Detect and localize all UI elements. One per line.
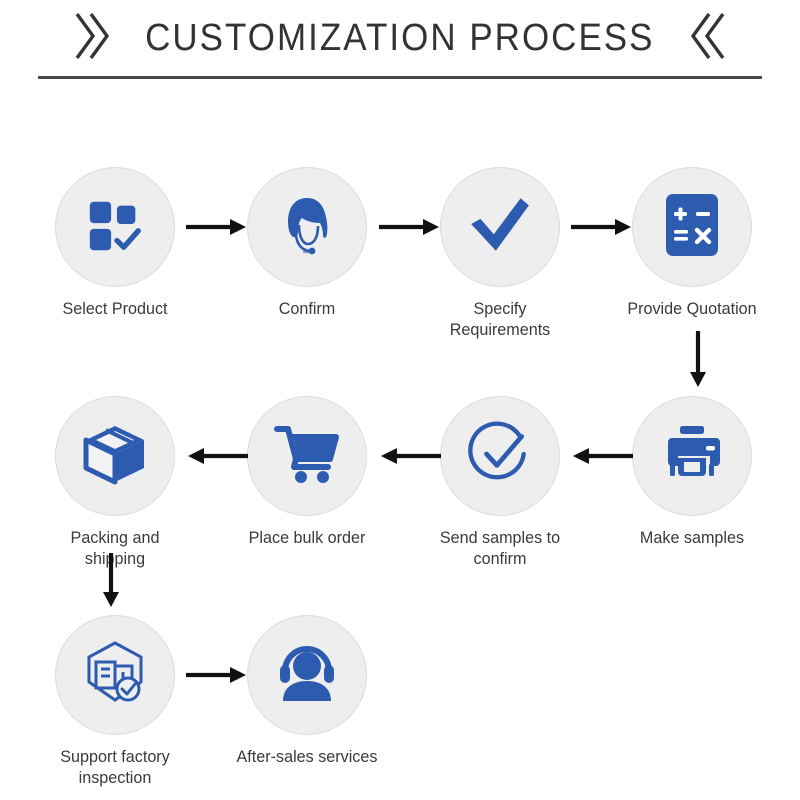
double-chevron-right-icon: [71, 10, 113, 67]
step-label: Select Product: [39, 298, 191, 319]
step-label: Make samples: [616, 527, 768, 548]
step-label: Place bulk order: [231, 527, 383, 548]
step-icon-circle: [632, 167, 752, 287]
step-icon-circle: [247, 615, 367, 735]
step-place-bulk-order[interactable]: Place bulk order: [227, 396, 387, 548]
circle-check-icon: [467, 421, 533, 492]
step-icon-circle: [247, 396, 367, 516]
step-send-samples[interactable]: Send samples to confirm: [420, 396, 580, 569]
step-label: Specify Requirements: [424, 298, 576, 340]
step-icon-circle: [55, 396, 175, 516]
step-select-product[interactable]: Select Product: [35, 167, 195, 319]
step-make-samples[interactable]: Make samples: [612, 396, 772, 548]
step-label: After-sales services: [231, 746, 383, 767]
step-label: Support factory inspection: [39, 746, 191, 788]
package-box-icon: [82, 422, 148, 491]
step-label: Confirm: [231, 298, 383, 319]
connector-arrow-right: [186, 212, 248, 247]
connector-arrow-right: [186, 660, 248, 695]
step-specify-requirements[interactable]: Specify Requirements: [420, 167, 580, 340]
step-icon-circle: [440, 167, 560, 287]
connector-arrow-right: [571, 212, 633, 247]
step-icon-circle: [440, 396, 560, 516]
step-label: Provide Quotation: [616, 298, 768, 319]
step-packing-shipping[interactable]: Packing and shipping: [35, 396, 195, 569]
grid-check-icon: [84, 194, 146, 261]
connector-arrow-down: [96, 553, 126, 614]
step-icon-circle: [247, 167, 367, 287]
step-after-sales[interactable]: After-sales services: [227, 615, 387, 767]
printer-icon: [660, 424, 724, 489]
connector-arrow-left: [379, 441, 441, 476]
support-person-icon: [275, 643, 339, 708]
page-header: CUSTOMIZATION PROCESS: [0, 0, 800, 92]
calculator-icon: [663, 192, 721, 263]
step-icon-circle: [55, 615, 175, 735]
title-row: CUSTOMIZATION PROCESS: [0, 8, 800, 68]
title-divider: [38, 76, 762, 79]
step-provide-quotation[interactable]: Provide Quotation: [612, 167, 772, 319]
step-icon-circle: [55, 167, 175, 287]
double-chevron-left-icon: [687, 10, 729, 67]
connector-arrow-down: [683, 331, 713, 394]
step-confirm[interactable]: Confirm: [227, 167, 387, 319]
connector-arrow-right: [379, 212, 441, 247]
step-factory-inspection[interactable]: Support factory inspection: [35, 615, 195, 788]
step-label: Send samples to confirm: [424, 527, 576, 569]
shopping-cart-icon: [274, 423, 340, 490]
step-icon-circle: [632, 396, 752, 516]
headset-agent-icon: [275, 193, 339, 262]
connector-arrow-left: [571, 441, 633, 476]
page-title: CUSTOMIZATION PROCESS: [145, 17, 654, 60]
connector-arrow-left: [186, 441, 248, 476]
checkmark-icon: [467, 192, 533, 263]
factory-shield-check-icon: [82, 640, 148, 711]
